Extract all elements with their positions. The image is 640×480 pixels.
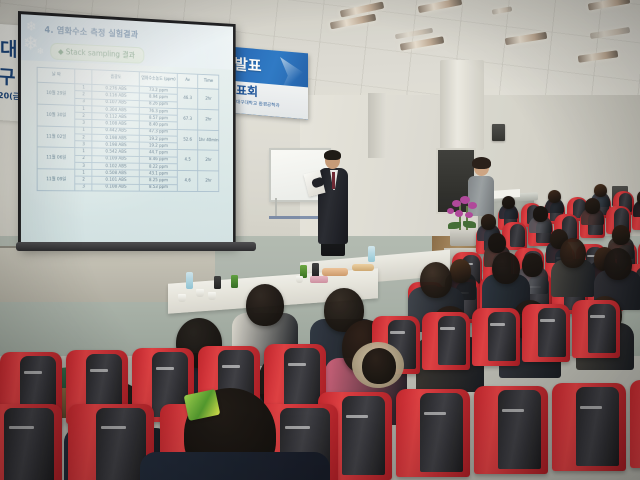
orchid-flower bbox=[447, 208, 454, 214]
cell-date: 11월 02일 bbox=[37, 126, 75, 148]
cell-time: 1hr 40min bbox=[198, 130, 219, 151]
presenter-tie bbox=[332, 172, 335, 189]
presenter-hair bbox=[324, 150, 341, 160]
screen-bottom-bar bbox=[16, 242, 256, 251]
moderator-body bbox=[468, 176, 494, 216]
seat-cushion bbox=[576, 387, 619, 466]
ceiling-column bbox=[440, 60, 484, 150]
cell-time: 2hr bbox=[198, 89, 219, 110]
cell-average: 4.5 bbox=[177, 150, 198, 171]
snack-plate bbox=[322, 268, 348, 276]
cell-absorbance: 0.108 ABS bbox=[92, 184, 140, 191]
audience-member-head bbox=[481, 214, 497, 229]
lecture-hall-photo: 대 구 20(금) 발표 표회 대구대학교 환경공학과 ❄ ❄ ❄ 4. 염화수… bbox=[0, 0, 640, 480]
beverage-can bbox=[312, 263, 319, 277]
seat-label bbox=[346, 415, 368, 418]
beverage-can bbox=[231, 275, 238, 288]
seat-cushion bbox=[498, 390, 541, 469]
seat-label bbox=[424, 412, 446, 415]
orchid-leaf bbox=[448, 222, 461, 229]
audience-member-head bbox=[492, 252, 520, 284]
seat bbox=[630, 380, 640, 468]
whiteboard-leg bbox=[275, 198, 277, 216]
th-concentration: 염화수소농도 (ppm) bbox=[140, 72, 177, 88]
audience-member-head bbox=[594, 184, 607, 197]
seat-label bbox=[590, 315, 604, 318]
seat-label bbox=[502, 409, 524, 412]
audience-member-head bbox=[548, 190, 561, 203]
event-banner: 발표 표회 대구대학교 환경공학과 bbox=[230, 47, 308, 120]
seat-cushion bbox=[4, 408, 54, 480]
audience-member-head bbox=[585, 198, 601, 213]
seat-cushion bbox=[96, 408, 146, 480]
pink-box bbox=[310, 276, 328, 283]
moderator-hair bbox=[472, 157, 491, 169]
seat-label bbox=[285, 426, 311, 429]
cell-average: 4.6 bbox=[177, 171, 198, 192]
cell-average: 67.3 bbox=[177, 109, 198, 130]
audience-member-head bbox=[560, 238, 586, 268]
seat-label bbox=[490, 323, 504, 326]
cell-date: 11월 09일 bbox=[37, 169, 75, 191]
seat-cushion bbox=[488, 312, 516, 361]
slide-data-table: 날 짜 흡광도 염화수소농도 (ppm) Av Time 10월 29일10.2… bbox=[37, 67, 220, 192]
audience-member-body bbox=[140, 452, 330, 480]
seat-label bbox=[390, 331, 404, 334]
projection-screen: ❄ ❄ ❄ 4. 염화수소 측정 실험결과 ◆ Stack sampling 결… bbox=[18, 11, 236, 249]
seat-label bbox=[90, 369, 109, 372]
wall-speaker-icon bbox=[492, 124, 505, 141]
left-banner-line2: 구 bbox=[0, 62, 15, 90]
audience-member-head bbox=[522, 253, 544, 277]
orchid-leaf bbox=[463, 221, 476, 228]
seat-label bbox=[440, 327, 454, 330]
seat-cushion bbox=[510, 224, 526, 247]
paper-cup bbox=[178, 294, 186, 302]
cell-average: 52.6 bbox=[177, 129, 198, 150]
audience-member-head bbox=[246, 284, 284, 326]
cell-time: 2hr bbox=[198, 171, 219, 192]
banner-line1: 발표 bbox=[234, 53, 262, 76]
seat-label bbox=[9, 426, 35, 429]
cell-average: 46.3 bbox=[177, 88, 198, 109]
cell-ppm: 8.53 ppm bbox=[140, 184, 177, 191]
cell-time: 2hr bbox=[198, 109, 219, 130]
seat-cushion bbox=[538, 308, 566, 357]
water-bottle bbox=[368, 246, 375, 262]
paper-cup bbox=[196, 289, 204, 297]
table-body: 10월 29일10.276 ABS73.2 ppm46.32hr20.116 A… bbox=[37, 82, 219, 191]
audience-member-head bbox=[420, 262, 452, 298]
left-banner-line1: 대 bbox=[0, 34, 17, 62]
th-average: Av bbox=[177, 73, 198, 88]
projected-slide: ❄ ❄ ❄ 4. 염화수소 측정 실험결과 ◆ Stack sampling 결… bbox=[21, 14, 233, 246]
orchid-flower bbox=[468, 202, 477, 209]
audience-member-head bbox=[533, 206, 549, 221]
snack-plate bbox=[352, 264, 374, 271]
seat-label bbox=[222, 365, 241, 368]
audience-member-head bbox=[488, 233, 506, 252]
wall-pillar bbox=[368, 93, 386, 158]
seat-label bbox=[156, 367, 175, 370]
seat-label bbox=[24, 371, 43, 374]
paper-cup bbox=[296, 276, 303, 283]
orchid-pot bbox=[450, 228, 476, 246]
th-time: Time bbox=[198, 74, 219, 89]
seat-label bbox=[288, 363, 307, 366]
audience-member-head bbox=[450, 259, 472, 283]
seat-label bbox=[580, 406, 602, 409]
seat-label bbox=[540, 319, 554, 322]
slide-bullet-text: Stack sampling 결과 bbox=[66, 47, 135, 59]
snowflake-icon: ❄ bbox=[37, 48, 44, 57]
cell-date: 10월 29일 bbox=[37, 82, 75, 105]
cell-time: 2hr bbox=[198, 150, 219, 171]
audience-member-head bbox=[612, 225, 630, 244]
orchid-flower bbox=[455, 210, 463, 217]
cell-no: 3 bbox=[75, 184, 92, 191]
cell-date: 11월 06일 bbox=[37, 147, 75, 169]
cell-date: 10월 30일 bbox=[37, 104, 75, 127]
orchid-flower bbox=[465, 212, 473, 218]
audience-member-head bbox=[502, 196, 515, 209]
audience-member-head bbox=[604, 248, 632, 280]
paper-cup bbox=[208, 292, 216, 300]
seat-cushion bbox=[420, 393, 463, 472]
water-bottle bbox=[186, 272, 193, 289]
seat-label bbox=[101, 426, 127, 429]
beverage-can bbox=[214, 276, 221, 289]
seat-cushion bbox=[342, 396, 385, 475]
seat-cushion bbox=[588, 304, 616, 353]
audience-member-head bbox=[362, 348, 396, 384]
th-date: 날 짜 bbox=[37, 67, 75, 84]
banner-line2: 표회 bbox=[236, 81, 258, 100]
th-no bbox=[75, 69, 92, 85]
seat-cushion bbox=[438, 316, 466, 365]
